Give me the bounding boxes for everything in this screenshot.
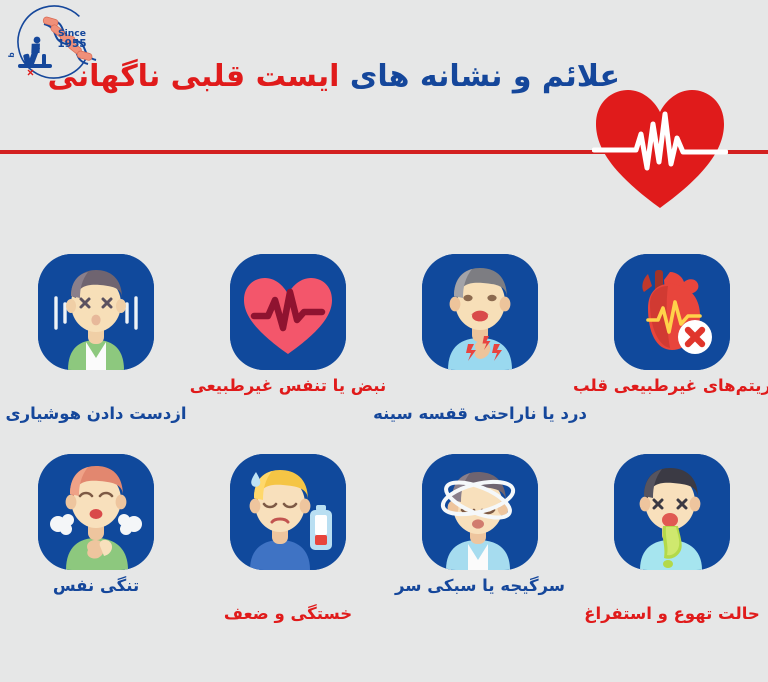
symptom-card-shortness-of-breath[interactable]: تنگی نفس (0, 446, 192, 646)
symptom-label: حالت تهوع و استفراغ (560, 604, 768, 623)
page-title: علائم و نشانه های ایست قلبی ناگهانی (60, 58, 620, 96)
low-battery-icon (310, 505, 332, 550)
symptom-card-abnormal-heart-rhythms[interactable]: ریتم‌های غیرطبیعی قلب (576, 246, 768, 446)
symptom-grid: ازدست دادن هوشیاری نبض یا تنفس غیرطبیعی (0, 246, 768, 666)
symptom-label: خستگی و ضعف (176, 604, 400, 623)
symptom-label: نبض یا تنفس غیرطبیعی (176, 376, 400, 395)
person-breathless-icon (38, 454, 154, 570)
person-tired-low-battery-icon (230, 454, 346, 570)
svg-text:Armin Pathobiology Lab: Armin Pathobiology Lab (4, 2, 16, 58)
person-dizzy-swirl-icon (422, 454, 538, 570)
symptom-card-dizziness-or-lightheadedness[interactable]: سرگیجه یا سبکی سر (384, 446, 576, 646)
symptom-label: سرگیجه یا سبکی سر (368, 576, 592, 595)
page-title-blue-segment: علائم و نشانه های (350, 59, 620, 94)
logo-since-line2: 1955 (57, 38, 86, 50)
symptom-card-nausea-and-vomiting[interactable]: حالت تهوع و استفراغ (576, 446, 768, 646)
symptom-card-chest-pain-or-discomfort[interactable]: درد یا ناراحتی قفسه سینه (384, 246, 576, 446)
person-chest-pain-icon (422, 254, 538, 370)
symptom-card-loss-of-consciousness[interactable]: ازدست دادن هوشیاری (0, 246, 192, 446)
person-unconscious-x-eyes-icon (38, 254, 154, 370)
infographic-canvas: Armin Pathobiology Lab (0, 0, 768, 682)
anatomical-heart-error-icon (614, 254, 730, 370)
heart-with-ecg-icon (592, 84, 728, 210)
person-vomiting-icon (614, 454, 730, 570)
symptom-label: ازدست دادن هوشیاری (0, 404, 208, 423)
symptom-label: درد یا ناراحتی قفسه سینه (368, 404, 592, 423)
symptom-card-abnormal-pulse-or-breathing[interactable]: نبض یا تنفس غیرطبیعی (192, 246, 384, 446)
symptom-card-fatigue-and-weakness[interactable]: خستگی و ضعف (192, 446, 384, 646)
symptom-label: ریتم‌های غیرطبیعی قلب (560, 376, 768, 395)
symptom-label: تنگی نفس (0, 576, 208, 595)
heart-pulse-line-icon (230, 254, 346, 370)
page-title-red-segment: ایست قلبی ناگهانی (48, 59, 340, 94)
